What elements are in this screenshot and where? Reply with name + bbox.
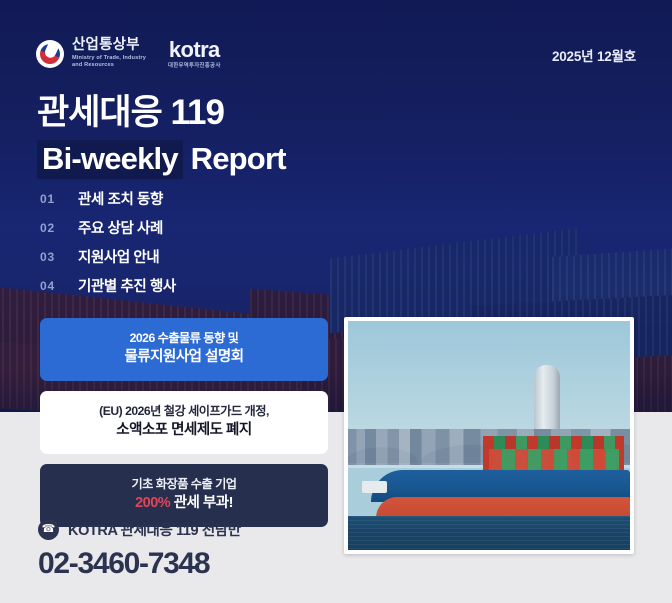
logo-row: 산업통상부 Ministry of Trade, Industry and Re… <box>36 38 221 70</box>
page-title: 관세대응 119 Bi-weekly Report <box>37 92 286 177</box>
issue-date: 2025년 12월호 <box>552 45 636 65</box>
title-highlight: Bi-weekly <box>37 140 183 179</box>
card-line-1: (EU) 2026년 철강 세이프가드 개정, <box>50 403 318 420</box>
title-english-rest: Report <box>191 141 286 176</box>
toc-item-02[interactable]: 02 주요 상담 사례 <box>40 213 176 242</box>
photo-container-stack-lower <box>489 449 619 472</box>
toc-number: 03 <box>40 250 78 264</box>
toc-label: 관세 조치 동향 <box>78 188 163 209</box>
footer-telephone[interactable]: 02-3460-7348 <box>38 547 241 581</box>
card-line-2: 소액소포 면세제도 폐지 <box>50 420 318 441</box>
kotra-subtitle: 대한무역투자진흥공사 <box>168 64 221 70</box>
title-korean: 관세대응 119 <box>37 92 286 133</box>
tariff-percent: 200% <box>135 495 170 511</box>
kotra-wordmark: kotra <box>168 38 221 61</box>
headline-cards: 2026 수출물류 동향 및 물류지원사업 설명회 (EU) 2026년 철강 … <box>40 318 328 537</box>
harbor-photo-frame <box>344 317 634 554</box>
toc-label: 기관별 추진 행사 <box>78 275 176 296</box>
ministry-name-en-2: and Resources <box>72 63 146 69</box>
toc-label: 지원사업 안내 <box>78 246 159 267</box>
footer-contact: ☎ KOTRA 관세대응 119 전담반 02-3460-7348 <box>38 519 241 581</box>
photo-sea <box>348 516 630 550</box>
card-line-1: 2026 수출물류 동향 및 <box>50 330 318 347</box>
toc-number: 01 <box>40 192 78 206</box>
ministry-name-en-1: Ministry of Trade, Industry <box>72 56 146 62</box>
card-line-2: 물류지원사업 설명회 <box>50 347 318 368</box>
container-ship-harbor-photo <box>348 321 630 550</box>
card-line-2: 200% 관세 부과! <box>50 493 318 514</box>
taegeuk-icon <box>36 40 64 68</box>
ministry-logo: 산업통상부 Ministry of Trade, Industry and Re… <box>36 38 146 69</box>
newsletter-poster: 산업통상부 Ministry of Trade, Industry and Re… <box>0 0 672 603</box>
headline-card-logistics[interactable]: 2026 수출물류 동향 및 물류지원사업 설명회 <box>40 318 328 381</box>
toc-item-01[interactable]: 01 관세 조치 동향 <box>40 184 176 213</box>
ministry-name-ko: 산업통상부 <box>72 38 146 53</box>
footer-label: KOTRA 관세대응 119 전담반 <box>68 519 241 540</box>
toc-item-04[interactable]: 04 기관별 추진 행사 <box>40 271 176 300</box>
title-english: Bi-weekly Report <box>37 140 286 177</box>
headline-card-cosmetics-tariff[interactable]: 기초 화장품 수출 기업 200% 관세 부과! <box>40 464 328 527</box>
card-line-1: 기초 화장품 수출 기업 <box>50 476 318 493</box>
tariff-text: 관세 부과! <box>174 495 233 511</box>
table-of-contents: 01 관세 조치 동향 02 주요 상담 사례 03 지원사업 안내 04 기관… <box>40 184 176 300</box>
toc-item-03[interactable]: 03 지원사업 안내 <box>40 242 176 271</box>
headline-card-eu-safeguard[interactable]: (EU) 2026년 철강 세이프가드 개정, 소액소포 면세제도 폐지 <box>40 391 328 454</box>
toc-number: 04 <box>40 279 78 293</box>
photo-tugboat <box>362 481 387 492</box>
phone-icon: ☎ <box>38 519 59 540</box>
toc-label: 주요 상담 사례 <box>78 217 163 238</box>
toc-number: 02 <box>40 221 78 235</box>
kotra-logo: kotra 대한무역투자진흥공사 <box>168 38 221 70</box>
